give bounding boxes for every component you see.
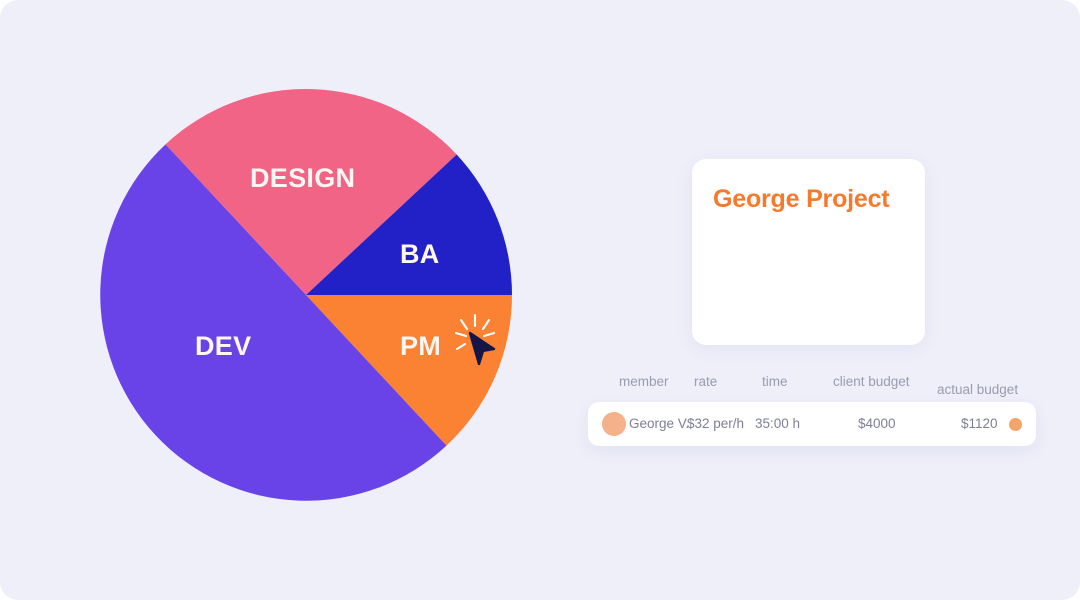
table-header-row: member rate time client budget actual bu…: [588, 370, 1036, 398]
project-title: George Project: [713, 185, 889, 214]
project-card[interactable]: George Project: [692, 159, 925, 345]
column-header-client-budget: client budget: [833, 374, 910, 389]
cell-time: 35:00 h: [755, 416, 800, 431]
app-canvas: DESIGN BA DEV PM George Project: [0, 0, 1080, 600]
status-badge: [1009, 418, 1022, 431]
table-row[interactable]: George V. $32 per/h 35:00 h $4000 $1120: [588, 402, 1036, 446]
pie-chart-svg: [100, 89, 512, 501]
cell-actual-budget: $1120: [961, 416, 998, 431]
pie-chart[interactable]: DESIGN BA DEV PM: [100, 89, 512, 501]
cell-member: George V.: [629, 416, 689, 431]
column-header-member: member: [619, 374, 669, 389]
cell-client-budget: $4000: [858, 416, 896, 431]
cell-rate: $32 per/h: [687, 416, 744, 431]
budget-table: member rate time client budget actual bu…: [588, 370, 1036, 446]
avatar: [602, 412, 626, 436]
column-header-actual-budget: actual budget: [937, 382, 1018, 397]
column-header-time: time: [762, 374, 788, 389]
column-header-rate: rate: [694, 374, 717, 389]
